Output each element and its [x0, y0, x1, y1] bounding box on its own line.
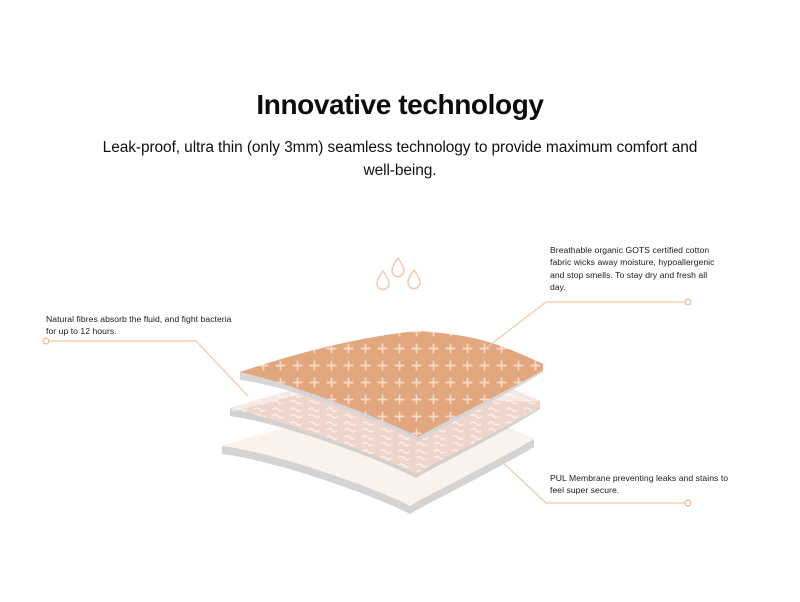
connector-endpoint-top-right: [685, 299, 691, 305]
connector-endpoint-left: [43, 338, 49, 344]
layer-diagram-illustration: [0, 0, 800, 602]
water-droplet-icon: [377, 271, 389, 290]
callout-natural-fibres: Natural fibres absorb the fluid, and fig…: [46, 313, 236, 338]
callout-breathable-cotton: Breathable organic GOTS certified cotton…: [550, 244, 722, 294]
connector-line-top-right: [486, 302, 685, 348]
water-droplet-icon: [408, 270, 420, 289]
connector-endpoint-bottom-right: [685, 500, 691, 506]
callout-pul-membrane: PUL Membrane preventing leaks and stains…: [550, 472, 730, 497]
page-root: Innovative technology Leak-proof, ultra …: [0, 0, 800, 602]
connector-line-left: [47, 341, 248, 396]
water-droplet-icon-group: [377, 258, 420, 290]
water-droplet-icon: [392, 258, 404, 277]
